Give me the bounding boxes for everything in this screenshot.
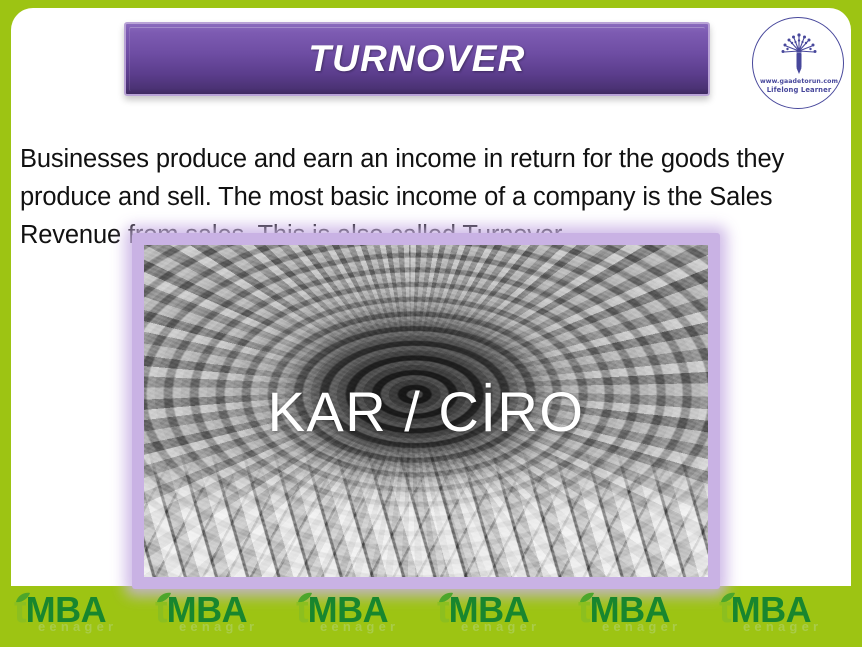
mba-logo: t MBA eenager — [14, 591, 132, 637]
slide-canvas: TURNOVER — [0, 0, 862, 647]
leaf-icon — [579, 592, 595, 604]
leaf-icon — [438, 592, 454, 604]
mba-logo: t MBA eenager — [437, 591, 555, 637]
picture-caption: KAR / CİRO — [144, 384, 708, 440]
picture-frame: KAR / CİRO — [132, 233, 720, 589]
mba-logo-sub: eenager — [602, 620, 681, 633]
mba-logo-sub: eenager — [179, 620, 258, 633]
badge-url: www.gaadetorun.com — [753, 78, 844, 86]
badge-text-block: www.gaadetorun.com Lifelong Learner — [753, 78, 844, 94]
mba-logo: t MBA eenager — [578, 591, 696, 637]
money-vortex-image: KAR / CİRO — [144, 245, 708, 577]
mba-logo-sub: eenager — [461, 620, 540, 633]
badge-tagline: Lifelong Learner — [753, 86, 844, 94]
pencil-tree-icon — [753, 26, 844, 80]
logo-strip: t MBA eenager t MBA eenager t MBA — [0, 586, 862, 647]
page-title: TURNOVER — [308, 38, 525, 80]
brand-badge-logo: www.gaadetorun.com Lifelong Learner — [752, 17, 844, 109]
leaf-icon — [156, 592, 172, 604]
leaf-icon — [720, 592, 736, 604]
mba-logo: t MBA eenager — [719, 591, 837, 637]
leaf-icon — [15, 592, 31, 604]
mba-logo: t MBA eenager — [296, 591, 414, 637]
logo-row: t MBA eenager t MBA eenager t MBA — [14, 589, 862, 637]
title-banner: TURNOVER — [124, 22, 710, 96]
mba-logo-sub: eenager — [320, 620, 399, 633]
leaf-icon — [297, 592, 313, 604]
mba-logo-sub: eenager — [38, 620, 117, 633]
mba-logo-sub: eenager — [743, 620, 822, 633]
mba-logo: t MBA eenager — [155, 591, 273, 637]
